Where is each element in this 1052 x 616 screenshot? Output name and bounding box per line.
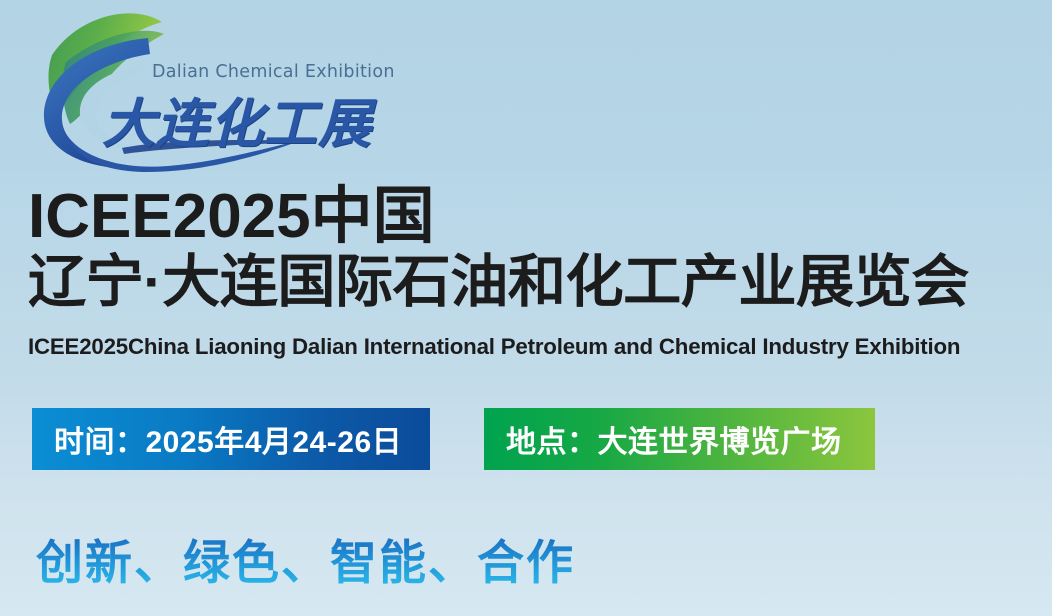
logo-chinese-wordmark: 大连化工展: [102, 82, 372, 158]
headline-line-2: 辽宁·大连国际石油和化工产业展览会: [28, 254, 969, 311]
venue-badge-label: 地点：大连世界博览广场: [484, 417, 842, 461]
headline-line-1: ICEE2025中国: [28, 186, 435, 248]
exhibition-promo-banner: Dalian Chemical Exhibition 大连化工展 ICEE202…: [0, 0, 1052, 616]
slogan-text: 创新、绿色、智能、合作: [36, 524, 575, 593]
date-badge-label: 时间：2025年4月24-26日: [32, 417, 402, 461]
venue-badge: 地点：大连世界博览广场: [484, 408, 875, 470]
date-badge: 时间：2025年4月24-26日: [32, 408, 430, 470]
logo-english-text: Dalian Chemical Exhibition: [152, 62, 395, 82]
logo-block: Dalian Chemical Exhibition 大连化工展: [22, 8, 352, 173]
headline-english-subtitle: ICEE2025China Liaoning Dalian Internatio…: [28, 334, 960, 360]
